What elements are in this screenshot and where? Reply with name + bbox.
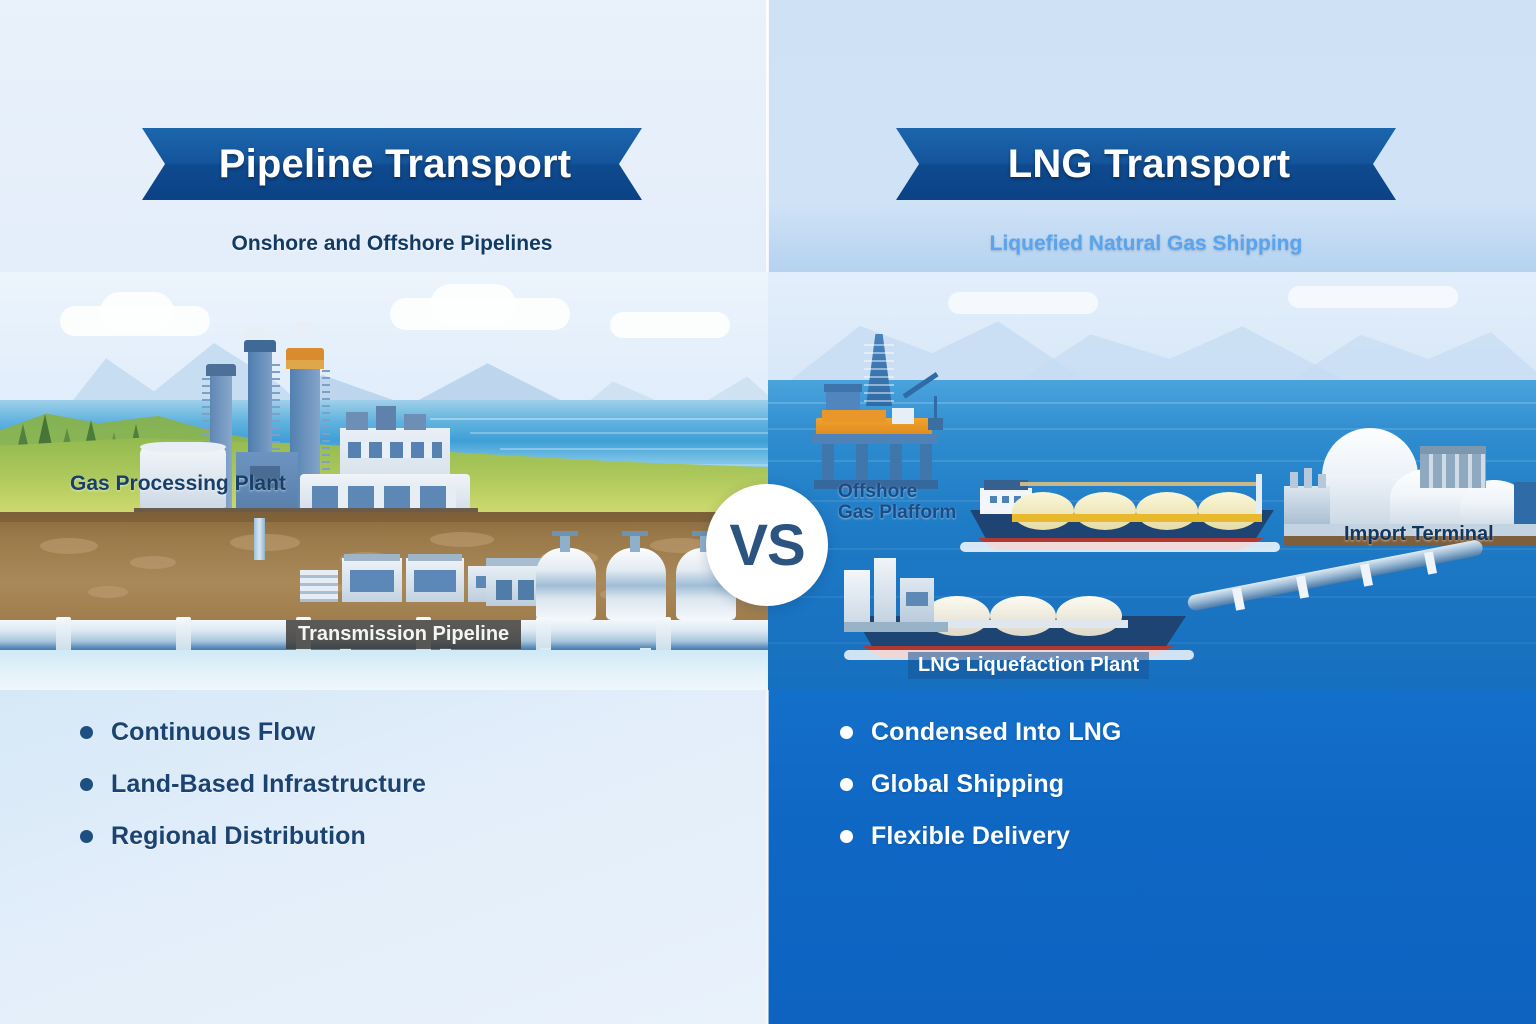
cloud-icon <box>100 292 174 332</box>
left-banner-title: Pipeline Transport <box>142 142 642 187</box>
versus-badge: VS <box>706 484 828 606</box>
wave-line <box>500 448 768 450</box>
bullet-dot-icon <box>840 726 853 739</box>
label-gas-processing-plant: Gas Processing Plant <box>70 472 286 496</box>
right-subtitle: Liquefied Natural Gas Shipping <box>896 232 1396 256</box>
label-offshore-gas-platform: Offshore Gas Plafform <box>838 481 956 524</box>
right-title-banner: LNG Transport <box>896 128 1396 200</box>
lng-carrier-icon <box>956 458 1286 562</box>
right-banner-title: LNG Transport <box>896 142 1396 187</box>
list-item-label: Global Shipping <box>871 770 1064 799</box>
infographic-canvas: Gas Processing Plant Transmission Pipeli… <box>0 0 1536 1024</box>
left-title-banner: Pipeline Transport <box>142 128 642 200</box>
cloud-icon <box>948 292 1098 314</box>
versus-label: VS <box>729 512 804 579</box>
wave-line <box>470 432 768 434</box>
riser-pipe <box>254 518 265 560</box>
bullet-dot-icon <box>840 778 853 791</box>
cloud-icon <box>430 284 516 326</box>
left-subtitle: Onshore and Offshore Pipelines <box>142 232 642 256</box>
left-feature-list: Continuous Flow Land-Based Infrastructur… <box>80 706 426 862</box>
label-import-terminal: Import Terminal <box>1344 523 1494 545</box>
cloud-icon <box>610 312 730 338</box>
subsea-pipeline <box>1188 568 1488 628</box>
list-item: Continuous Flow <box>80 706 426 758</box>
offshore-platform-icon <box>808 334 958 484</box>
label-transmission-pipeline: Transmission Pipeline <box>286 620 521 649</box>
shallow-water <box>0 650 768 690</box>
list-item-label: Land-Based Infrastructure <box>111 770 426 799</box>
gas-processing-plant-icon <box>140 334 500 534</box>
bullet-dot-icon <box>80 726 93 739</box>
list-item: Regional Distribution <box>80 810 426 862</box>
cloud-icon <box>1288 286 1458 308</box>
right-feature-list: Condensed Into LNG Global Shipping Flexi… <box>840 706 1121 862</box>
list-item: Land-Based Infrastructure <box>80 758 426 810</box>
list-item: Global Shipping <box>840 758 1121 810</box>
liquefaction-plant-icon <box>844 548 964 638</box>
list-item-label: Condensed Into LNG <box>871 718 1121 747</box>
label-lng-liquefaction-plant: LNG Liquefaction Plant <box>908 652 1149 679</box>
bullet-dot-icon <box>80 830 93 843</box>
list-item: Condensed Into LNG <box>840 706 1121 758</box>
list-item-label: Continuous Flow <box>111 718 315 747</box>
bullet-dot-icon <box>840 830 853 843</box>
list-item-label: Flexible Delivery <box>871 822 1070 851</box>
bullet-dot-icon <box>80 778 93 791</box>
list-item-label: Regional Distribution <box>111 822 366 851</box>
list-item: Flexible Delivery <box>840 810 1121 862</box>
